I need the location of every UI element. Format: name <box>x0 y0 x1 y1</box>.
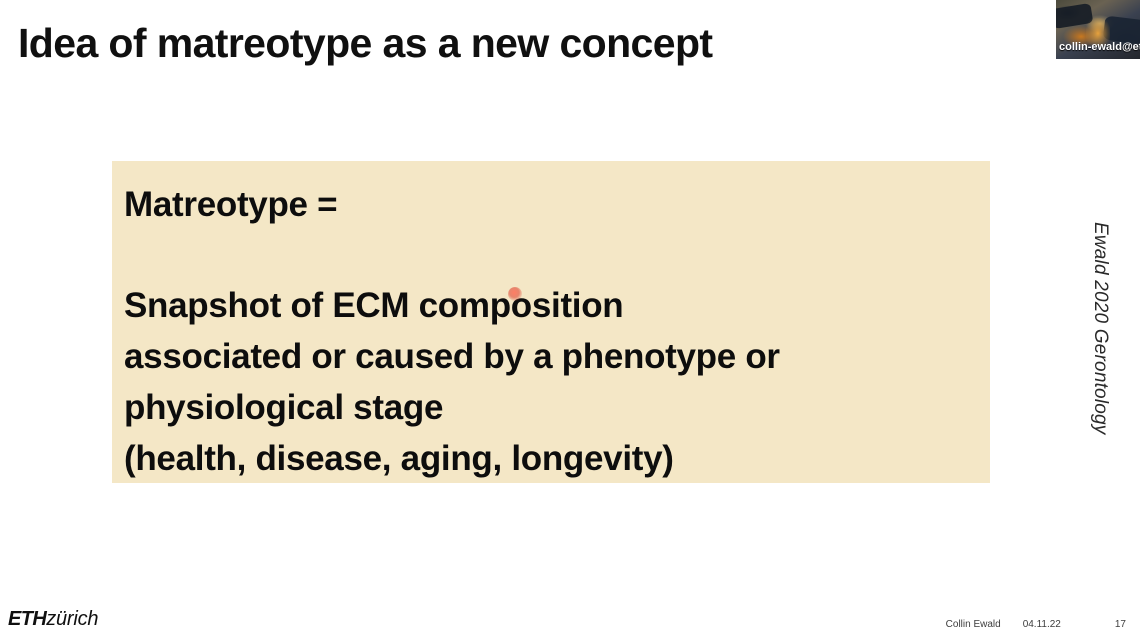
definition-heading: Matreotype = <box>124 179 990 230</box>
source-citation: Ewald 2020 Gerontology <box>1088 222 1112 472</box>
footer-author: Collin Ewald <box>946 618 1001 631</box>
footer-date: 04.11.22 <box>1023 618 1061 631</box>
slide-canvas: Idea of matreotype as a new concept coll… <box>0 0 1140 639</box>
definition-box: Matreotype = Snapshot of ECM composition… <box>112 161 990 483</box>
definition-line-2: associated or caused by a phenotype or <box>124 331 990 382</box>
page-title: Idea of matreotype as a new concept <box>18 18 958 68</box>
definition-line-3: physiological stage <box>124 382 990 433</box>
email-watermark: collin-ewald@et <box>1056 41 1140 53</box>
definition-line-1: Snapshot of ECM composition <box>124 280 990 331</box>
footer-page-number: 17 <box>1115 618 1126 631</box>
eth-zurich-logo: ETHzürich <box>8 608 98 630</box>
footer-meta: Collin Ewald 04.11.22 17 <box>946 618 1126 631</box>
definition-line-4: (health, disease, aging, longevity) <box>124 433 990 484</box>
eth-logo-city: zürich <box>46 608 98 630</box>
eth-logo-mark: ETH <box>8 608 46 630</box>
photo-thumbnail: collin-ewald@et <box>1056 0 1140 59</box>
